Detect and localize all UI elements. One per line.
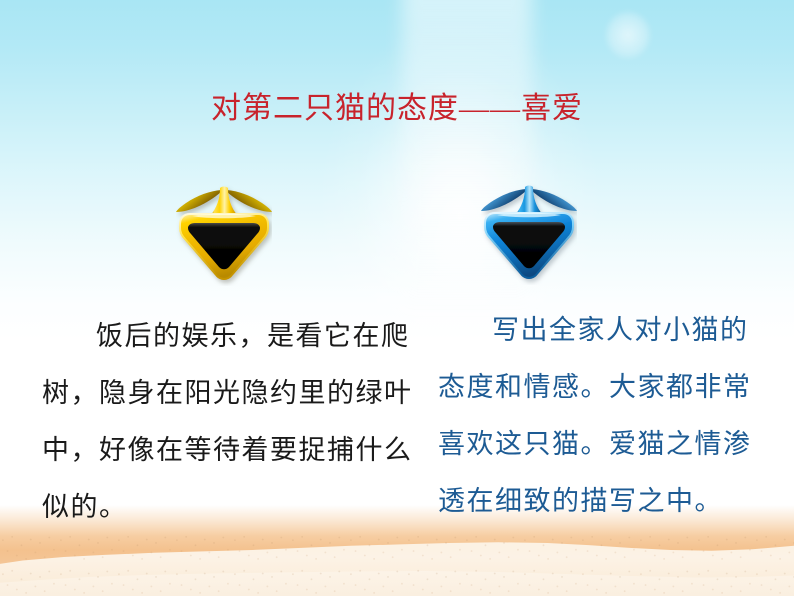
blue-banner-icon [481,181,577,285]
yellow-wing-left [176,190,221,212]
yellow-banner-icon [176,182,272,286]
yellow-wing-right [227,190,272,212]
slide-title: 对第二只猫的态度——喜爱 [0,90,794,128]
slide-canvas: 对第二只猫的态度——喜爱 [0,0,794,596]
left-passage-text: 饭后的娱乐，是看它在爬树，隐身在阳光隐约里的绿叶中，好像在等待着要捉捕什么似的。 [42,308,424,536]
right-commentary-text: 写出全家人对小猫的态度和情感。大家都非常喜欢这只猫。爱猫之情渗透在细致的描写之中… [438,302,776,530]
blue-banner-ornament [481,181,577,285]
yellow-banner-ornament [176,182,272,286]
blue-wing-left [481,189,526,211]
blue-neck [515,186,543,216]
sky-gradient-background [0,0,794,340]
blue-wing-right [532,189,577,211]
yellow-neck [210,187,238,217]
